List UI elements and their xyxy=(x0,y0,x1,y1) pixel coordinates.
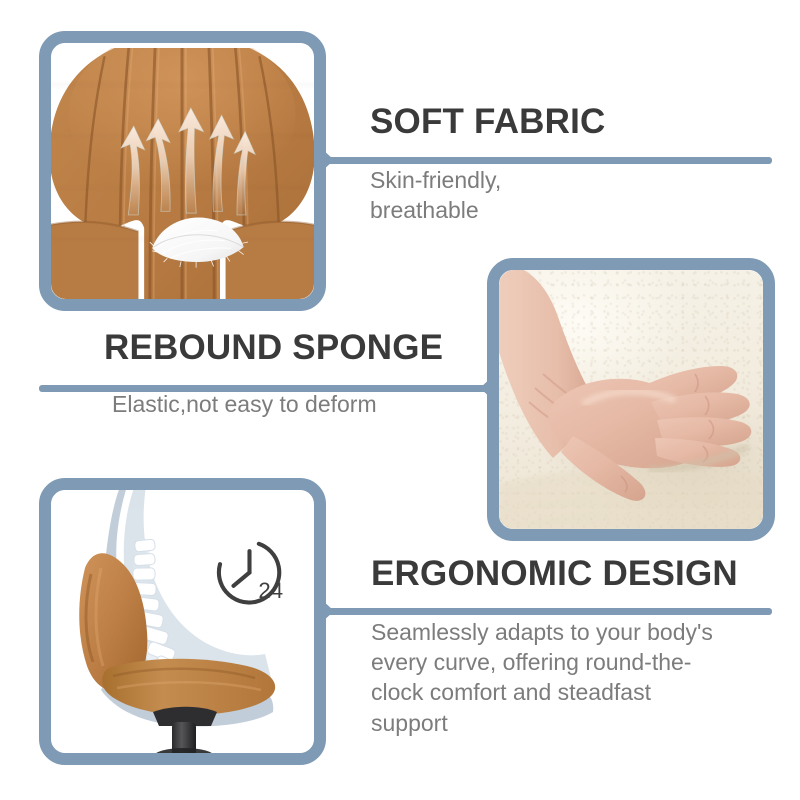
feature-text-rebound-sponge: REBOUND SPONGE Elastic,not easy to defor… xyxy=(104,330,443,419)
ergonomic-chair-photo: 24 xyxy=(51,490,314,753)
memory-foam-photo xyxy=(499,270,763,529)
chair-side-view-icon xyxy=(51,490,314,753)
subtext-ergonomic-design: Seamlessly adapts to your body's every c… xyxy=(371,617,738,738)
heading-rebound-sponge: REBOUND SPONGE xyxy=(104,330,443,367)
feature-text-soft-fabric: SOFT FABRIC Skin-friendly, breathable xyxy=(370,104,606,225)
connector-notch-rebound-sponge xyxy=(480,375,494,401)
feature-text-ergonomic-design: ERGONOMIC DESIGN Seamlessly adapts to yo… xyxy=(371,556,738,738)
feather-icon xyxy=(146,212,251,268)
clock-24-icon: 24 xyxy=(214,537,285,608)
connector-rule-ergonomic-design xyxy=(320,608,772,615)
subtext-rebound-sponge: Elastic,not easy to deform xyxy=(112,389,443,419)
connector-notch-soft-fabric xyxy=(320,147,334,173)
connector-notch-ergonomic-design xyxy=(320,598,334,624)
feature-image-ergonomic-design: 24 xyxy=(39,478,326,765)
heading-soft-fabric: SOFT FABRIC xyxy=(370,104,606,141)
subtext-soft-fabric: Skin-friendly, breathable xyxy=(370,165,606,226)
infographic-canvas: SOFT FABRIC Skin-friendly, breathable xyxy=(0,0,800,800)
airflow-arrows-icon xyxy=(109,99,256,217)
clock-badge-label: 24 xyxy=(258,579,283,604)
chair-back-photo xyxy=(51,43,314,299)
connector-rule-rebound-sponge xyxy=(39,385,494,392)
feature-image-soft-fabric xyxy=(39,31,326,311)
heading-ergonomic-design: ERGONOMIC DESIGN xyxy=(371,556,738,593)
feature-image-rebound-sponge xyxy=(487,258,775,541)
connector-rule-soft-fabric xyxy=(320,157,772,164)
hand-icon xyxy=(499,270,763,529)
